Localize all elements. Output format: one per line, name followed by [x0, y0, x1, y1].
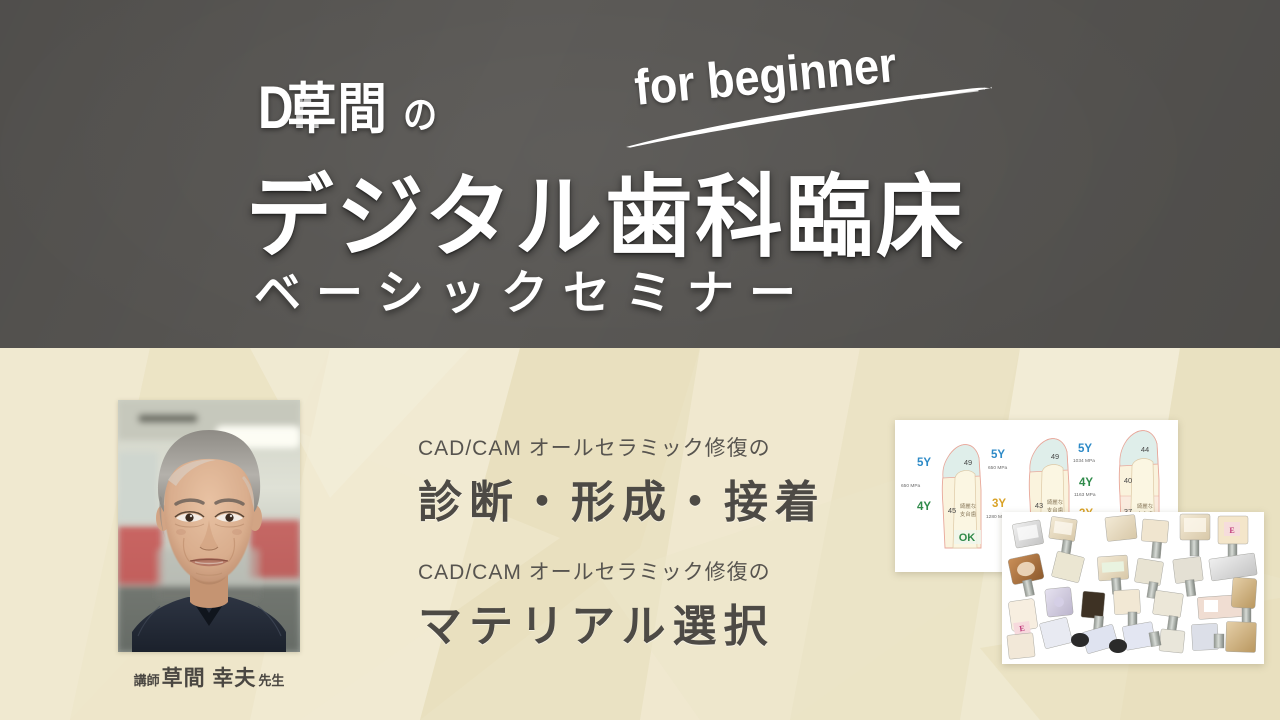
seminar-subtitle: ベーシックセミナー: [254, 254, 811, 323]
svg-text:5Y: 5Y: [917, 457, 931, 469]
topic-1-subtitle: CAD/CAM オールセラミック修復の: [418, 432, 868, 462]
svg-text:5Y: 5Y: [1078, 443, 1092, 455]
header-banner: Dr. 草間 の for beginner デジタル歯科臨床 ベーシックセミナー: [0, 0, 1280, 348]
doctor-name: 草間: [287, 64, 388, 144]
svg-text:綺麗な: 綺麗な: [1137, 502, 1154, 510]
topic-2-title: マテリアル選択: [418, 590, 868, 654]
svg-text:綺麗な: 綺麗な: [960, 502, 977, 510]
topic-2-subtitle: CAD/CAM オールセラミック修復の: [418, 556, 868, 586]
svg-text:49: 49: [964, 458, 972, 467]
doctor-particle: の: [403, 84, 437, 139]
ceramic-blocks-image: E: [1002, 512, 1264, 664]
svg-text:4Y: 4Y: [917, 501, 931, 513]
svg-text:44: 44: [1141, 445, 1149, 454]
svg-text:支台歯: 支台歯: [960, 510, 977, 518]
topic-item-2: CAD/CAM オールセラミック修復の マテリアル選択: [418, 556, 868, 654]
doctor-name-line: Dr. 草間 の: [258, 64, 441, 144]
svg-text:5Y: 5Y: [991, 449, 1005, 461]
topics-list: CAD/CAM オールセラミック修復の 診断・形成・接着 CAD/CAM オール…: [418, 432, 868, 680]
ceramic-blocks-photo: E: [1002, 512, 1264, 664]
instructor-honorific: 先生: [258, 673, 284, 688]
svg-text:40: 40: [1124, 476, 1132, 485]
instructor-photo: [118, 400, 300, 652]
svg-text:3Y: 3Y: [992, 498, 1006, 510]
svg-text:綺麗な: 綺麗な: [1047, 498, 1064, 506]
topic-1-title: 診断・形成・接着: [418, 466, 868, 530]
svg-text:650 MPa: 650 MPa: [901, 483, 921, 489]
instructor-caption: 講師草間 幸夫先生: [118, 662, 300, 692]
svg-text:E: E: [1229, 526, 1234, 535]
instructor-portrait-image: [118, 400, 300, 652]
svg-text:49: 49: [1051, 452, 1059, 461]
svg-text:650 MPa: 650 MPa: [988, 465, 1008, 471]
instructor-role-label: 講師: [134, 673, 160, 688]
svg-text:OK: OK: [959, 532, 976, 544]
instructor-name: 草間 幸夫: [162, 667, 257, 690]
topic-item-1: CAD/CAM オールセラミック修復の 診断・形成・接着: [418, 432, 868, 530]
svg-text:1034 MPa: 1034 MPa: [1073, 458, 1095, 464]
svg-text:45: 45: [948, 506, 956, 515]
svg-text:4Y: 4Y: [1079, 477, 1093, 489]
svg-text:43: 43: [1035, 501, 1043, 510]
svg-text:1163 MPa: 1163 MPa: [1074, 492, 1096, 498]
